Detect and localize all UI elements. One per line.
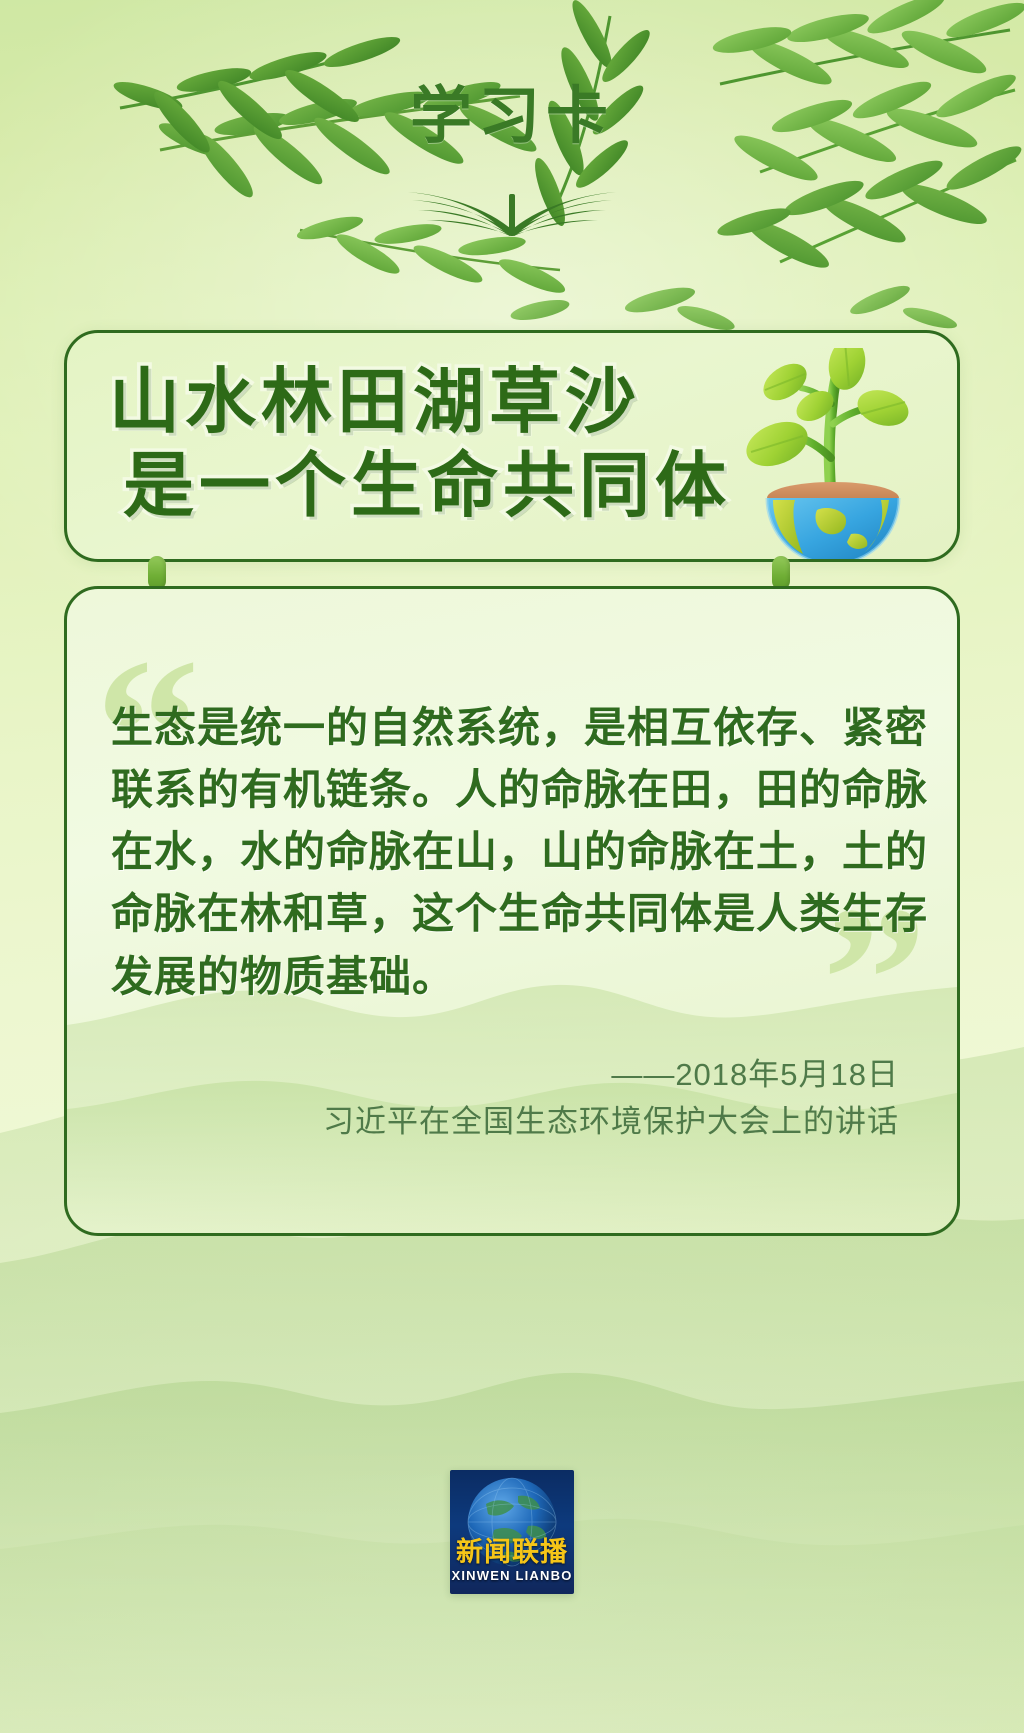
logo-english-text: XINWEN LIANBO [450, 1569, 574, 1582]
title-line-2: 是一个生命共同体 [109, 445, 749, 529]
attribution: ——2018年5月18日 习近平在全国生态环境保护大会上的讲话 [323, 1051, 899, 1145]
attribution-source: 习近平在全国生态环境保护大会上的讲话 [323, 1098, 899, 1145]
logo-chinese-text: 新闻联播 [450, 1539, 574, 1566]
quote-card: “ ” 生态是统一的自然系统，是相互依存、紧密 联系的有机链条。人的命脉在田，田… [64, 586, 960, 1236]
willow-branches-decoration [0, 0, 1024, 360]
quote-line: 发展的物质基础。 [111, 946, 901, 1008]
quote-line: 命脉在林和草，这个生命共同体是人类生存 [111, 883, 901, 945]
open-book-icon [392, 170, 632, 238]
attribution-date: ——2018年5月18日 [323, 1051, 899, 1098]
xinwen-lianbo-logo: 新闻联播 XINWEN LIANBO [450, 1470, 574, 1594]
poster-root: 学习卡 山水林田湖草沙 是一个生命共同体 [0, 0, 1024, 1733]
title-line-1: 山水林田湖草沙 [109, 361, 749, 445]
quote-line: 联系的有机链条。人的命脉在田，田的命脉 [111, 759, 901, 821]
title-text-group: 山水林田湖草沙 是一个生命共同体 [109, 361, 749, 529]
quote-line: 在水，水的命脉在山，山的命脉在土，土的 [111, 821, 901, 883]
card-connector-left [148, 556, 166, 590]
card-connector-right [772, 556, 790, 590]
brand-title: 学习卡 [382, 86, 642, 148]
brand-mark: 学习卡 [382, 78, 642, 238]
sapling-in-globe-pot-icon [729, 348, 939, 562]
quote-text-group: 生态是统一的自然系统，是相互依存、紧密 联系的有机链条。人的命脉在田，田的命脉 … [111, 697, 901, 1008]
quote-line: 生态是统一的自然系统，是相互依存、紧密 [111, 697, 901, 759]
brand-logo: 学习卡 [0, 78, 1024, 243]
title-card: 山水林田湖草沙 是一个生命共同体 [64, 330, 960, 562]
